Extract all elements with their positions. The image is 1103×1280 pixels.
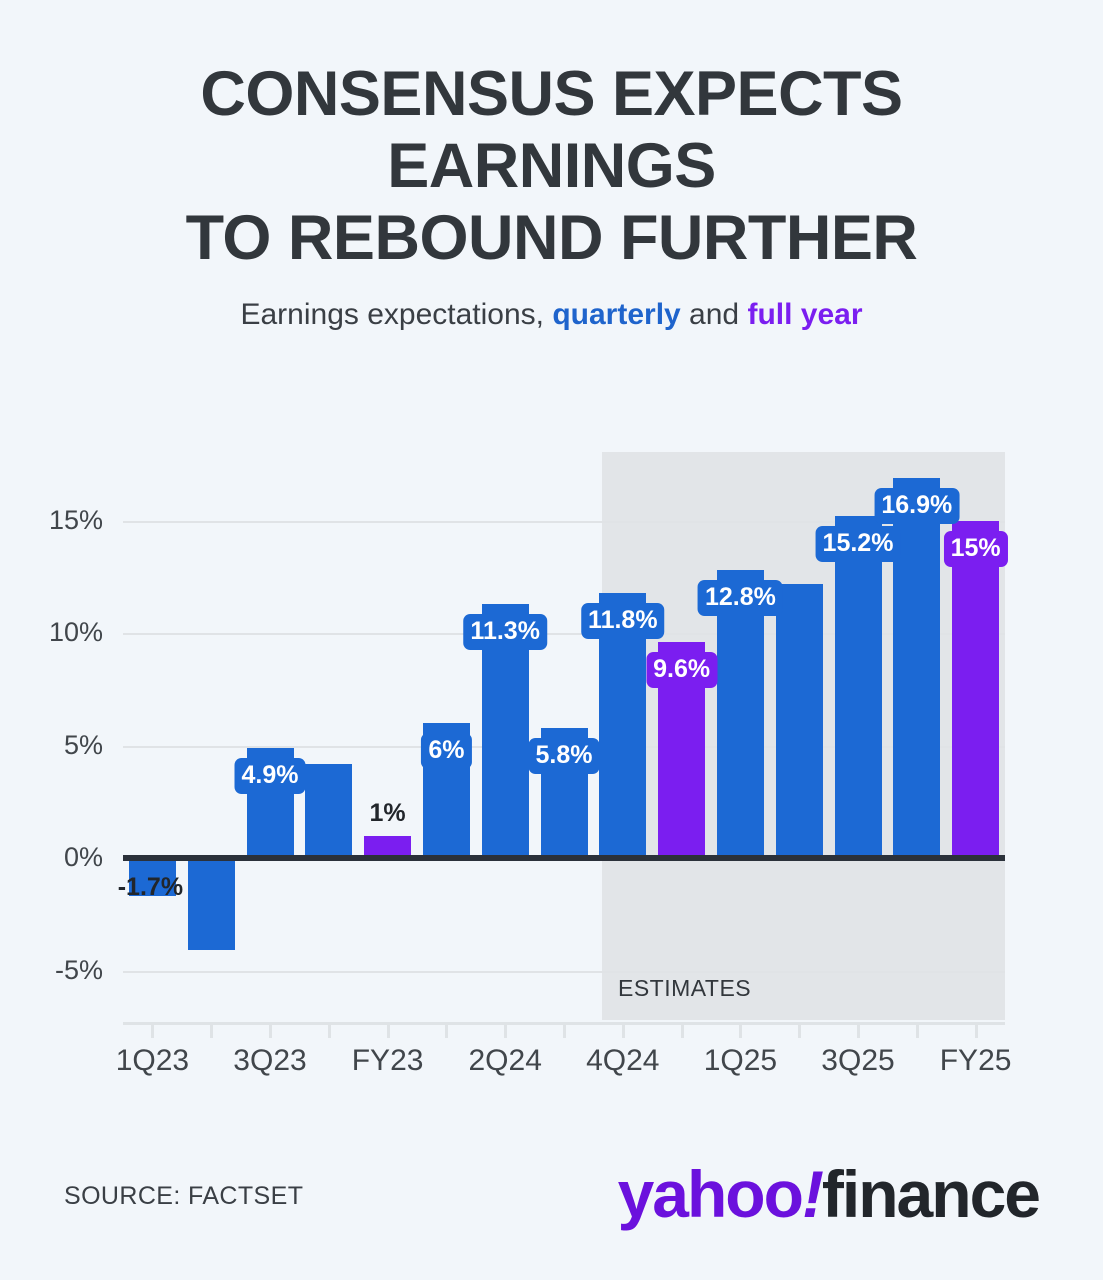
x-axis-tick <box>210 1022 213 1038</box>
y-axis-tick-label: 0% <box>3 842 103 873</box>
x-axis-tick <box>975 1022 978 1038</box>
bar-value-label: -1.7% <box>111 870 190 906</box>
subtitle-conjunction: and <box>681 298 748 331</box>
y-axis-tick-label: 15% <box>3 505 103 536</box>
y-axis-tick-label: 10% <box>3 617 103 648</box>
subtitle-prefix: Earnings expectations, <box>240 298 552 331</box>
x-axis-tick <box>563 1022 566 1038</box>
bar-value-label: 15% <box>944 531 1008 567</box>
x-axis-tick <box>739 1022 742 1038</box>
bar-2q25[interactable] <box>776 584 823 859</box>
logo-exclamation-icon: ! <box>802 1157 822 1231</box>
x-axis-tick-label: 1Q25 <box>704 1044 777 1078</box>
x-axis-tick <box>798 1022 801 1038</box>
source-note: SOURCE: FACTSET <box>64 1182 303 1211</box>
x-axis-tick <box>916 1022 919 1038</box>
bar-value-label: 4.9% <box>235 758 306 794</box>
title-line-3: TO REBOUND FURTHER <box>36 202 1067 274</box>
x-axis-tick <box>151 1022 154 1038</box>
bar-value-label: 1% <box>363 796 413 832</box>
x-axis-tick-label: 1Q23 <box>116 1044 189 1078</box>
x-axis-tick-label: FY25 <box>940 1044 1012 1078</box>
estimates-annotation: ESTIMATES <box>618 975 751 1002</box>
logo-finance-text: finance <box>822 1157 1039 1231</box>
bar-value-label: 9.6% <box>646 652 717 688</box>
chart-footer: SOURCE: FACTSET yahoo!finance <box>0 1150 1103 1260</box>
yahoo-finance-logo: yahoo!finance <box>618 1156 1039 1232</box>
x-axis-tick <box>622 1022 625 1038</box>
x-axis-tick-label: 4Q24 <box>586 1044 659 1078</box>
bar-value-label: 11.8% <box>581 603 665 639</box>
bar-4q23[interactable] <box>305 764 352 859</box>
title-line-1: CONSENSUS EXPECTS <box>36 58 1067 130</box>
x-axis-tick-label: 3Q23 <box>233 1044 306 1078</box>
x-axis-tick-label: 3Q25 <box>821 1044 894 1078</box>
bar-value-label: 5.8% <box>529 738 600 774</box>
x-axis-tick <box>857 1022 860 1038</box>
x-axis-tick <box>269 1022 272 1038</box>
x-axis-tick <box>328 1022 331 1038</box>
y-axis-tick-label: -5% <box>3 955 103 986</box>
bar-3q25[interactable] <box>835 516 882 858</box>
x-axis-tick-label: FY23 <box>352 1044 424 1078</box>
x-axis-tick <box>681 1022 684 1038</box>
bar-value-label: 6% <box>421 733 471 769</box>
x-axis-tick-label: 2Q24 <box>468 1044 541 1078</box>
y-axis-tick-label: 5% <box>3 730 103 761</box>
subtitle-quarterly-highlight: quarterly <box>552 298 680 331</box>
bar-fy25[interactable] <box>952 521 999 859</box>
bar-value-label: 12.8% <box>698 580 783 616</box>
gridline <box>123 971 1005 973</box>
chart-subtitle: Earnings expectations, quarterly and ful… <box>0 297 1103 333</box>
x-axis-tick <box>387 1022 390 1038</box>
bar-value-label: 16.9% <box>874 488 959 524</box>
bar-chart-plot: ESTIMATES 15%10%5%0%-5% -1.7%4.9%1%6%11.… <box>0 430 1103 1070</box>
title-line-2: EARNINGS <box>36 130 1067 202</box>
subtitle-fullyear-highlight: full year <box>747 298 862 331</box>
bar-2q23[interactable] <box>188 858 235 950</box>
zero-baseline <box>123 855 1005 861</box>
x-axis-tick <box>504 1022 507 1038</box>
bar-value-label: 11.3% <box>463 614 547 650</box>
x-axis-tick <box>445 1022 448 1038</box>
bar-value-label: 15.2% <box>816 526 901 562</box>
page-title: CONSENSUS EXPECTS EARNINGS TO REBOUND FU… <box>36 58 1067 274</box>
chart-header: CONSENSUS EXPECTS EARNINGS TO REBOUND FU… <box>0 0 1103 333</box>
logo-yahoo-text: yahoo <box>618 1157 802 1231</box>
